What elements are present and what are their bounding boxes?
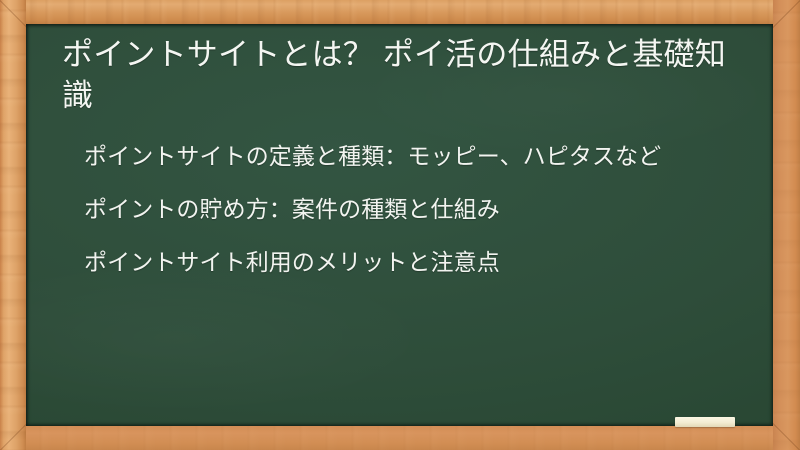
list-item: ポイントサイト利用のメリットと注意点 [84, 246, 724, 279]
chalkboard-frame: ポイントサイトとは？ ポイ活の仕組みと基礎知識 ポイントサイトの定義と種類：モッ… [0, 0, 800, 450]
frame-plank-right [773, 0, 800, 450]
board-title: ポイントサイトとは？ ポイ活の仕組みと基礎知識 [60, 34, 739, 116]
chalk-stick-icon [675, 417, 735, 427]
chalkboard-content: ポイントサイトとは？ ポイ活の仕組みと基礎知識 ポイントサイトの定義と種類：モッ… [60, 34, 739, 279]
chalkboard-surface: ポイントサイトとは？ ポイ活の仕組みと基礎知識 ポイントサイトの定義と種類：モッ… [26, 24, 773, 426]
frame-plank-top [0, 0, 800, 24]
frame-plank-bottom [0, 426, 800, 450]
board-topic-list: ポイントサイトの定義と種類：モッピー、ハピタスなど ポイントの貯め方：案件の種類… [60, 140, 739, 279]
list-item: ポイントサイトの定義と種類：モッピー、ハピタスなど [84, 140, 724, 173]
list-item: ポイントの貯め方：案件の種類と仕組み [84, 193, 724, 226]
frame-plank-left [0, 0, 26, 450]
